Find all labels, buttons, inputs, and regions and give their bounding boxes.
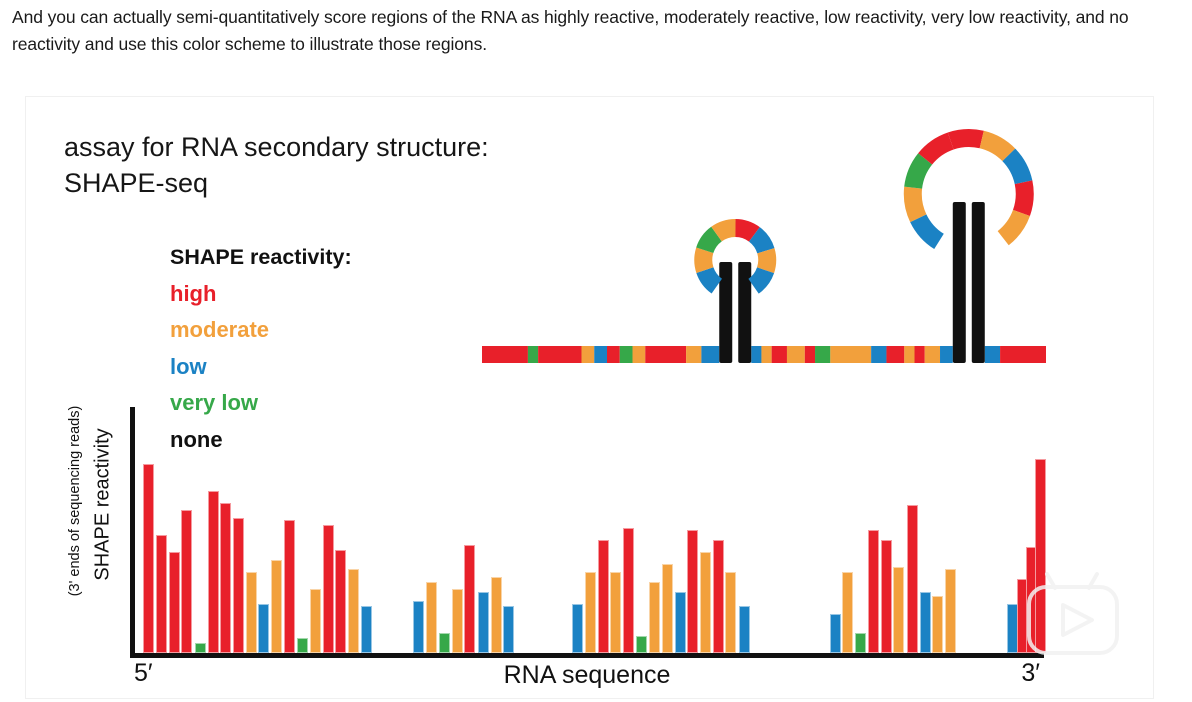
y-axis-label: SHAPE reactivity xyxy=(92,380,115,630)
bar-moderate xyxy=(585,572,596,653)
bar-high xyxy=(284,520,295,653)
bar-high xyxy=(208,491,219,653)
video-play-icon xyxy=(1019,568,1127,660)
bar-high xyxy=(598,540,609,653)
bar-moderate xyxy=(271,560,282,653)
backbone-segment xyxy=(1000,346,1046,363)
x-axis-ticks: 5′ RNA sequence 3′ xyxy=(130,659,1044,695)
backbone-segment xyxy=(815,346,830,363)
backbone-segment xyxy=(607,346,620,363)
bar-series xyxy=(135,407,1042,653)
bar-high xyxy=(868,530,879,653)
bar-moderate xyxy=(310,589,321,653)
slide-title: assay for RNA secondary structure: SHAPE… xyxy=(64,129,489,201)
backbone-segment xyxy=(805,346,815,363)
bar-low xyxy=(413,601,424,653)
shape-reactivity-chart: (3' ends of sequencing reads) SHAPE reac… xyxy=(34,397,1044,697)
bar-high xyxy=(907,505,918,653)
x-tick-3-prime: 3′ xyxy=(1021,659,1040,688)
bar-high xyxy=(233,518,244,653)
backbone-segment xyxy=(772,346,787,363)
backbone-segment xyxy=(482,346,528,363)
backbone-segment xyxy=(528,346,538,363)
legend-item-moderate: moderate xyxy=(170,312,352,349)
hairpin-stem xyxy=(953,202,966,363)
backbone-segment xyxy=(925,346,940,363)
backbone-segment xyxy=(904,346,914,363)
backbone-segment xyxy=(985,346,1000,363)
bar-high xyxy=(169,552,180,653)
bar-high xyxy=(181,510,192,653)
bar-very_low xyxy=(636,636,647,653)
bar-very_low xyxy=(439,633,450,653)
backbone-segment xyxy=(581,346,594,363)
hairpin-stem xyxy=(719,262,732,363)
bar-high xyxy=(687,530,698,653)
x-axis-line xyxy=(130,653,1044,658)
slide-panel: assay for RNA secondary structure: SHAPE… xyxy=(26,97,1153,698)
bar-moderate xyxy=(842,572,853,653)
bar-high xyxy=(464,545,475,653)
rna-hairpin-large xyxy=(913,138,1025,363)
bar-moderate xyxy=(700,552,711,653)
bar-high xyxy=(156,535,167,653)
bar-low xyxy=(675,592,686,654)
bar-low xyxy=(258,604,269,653)
backbone-segment xyxy=(787,346,805,363)
backbone-segment xyxy=(761,346,771,363)
bar-moderate xyxy=(246,572,257,653)
bar-low xyxy=(739,606,750,653)
slide-content: assay for RNA secondary structure: SHAPE… xyxy=(26,97,1153,698)
bar-moderate xyxy=(893,567,904,653)
bar-high xyxy=(713,540,724,653)
bar-very_low xyxy=(195,643,206,653)
bar-moderate xyxy=(725,572,736,653)
backbone-segment xyxy=(538,346,581,363)
bar-low xyxy=(920,592,931,654)
backbone-segment xyxy=(686,346,701,363)
backbone-segment xyxy=(701,346,719,363)
backbone-segment xyxy=(830,346,871,363)
bar-moderate xyxy=(426,582,437,653)
legend-item-low: low xyxy=(170,349,352,386)
bar-moderate xyxy=(945,569,956,653)
backbone-segment xyxy=(633,346,646,363)
bar-very_low xyxy=(855,633,866,653)
bar-high xyxy=(881,540,892,653)
backbone-segment xyxy=(940,346,953,363)
backbone-segment xyxy=(915,346,925,363)
bar-moderate xyxy=(649,582,660,653)
hairpin-stem xyxy=(972,202,985,363)
rna-hairpin-small xyxy=(703,228,767,363)
bar-moderate xyxy=(932,596,943,653)
bar-low xyxy=(361,606,372,653)
bar-low xyxy=(572,604,583,653)
bar-low xyxy=(478,592,489,654)
legend-title: SHAPE reactivity: xyxy=(170,239,352,276)
bar-very_low xyxy=(297,638,308,653)
bar-moderate xyxy=(662,564,673,653)
bar-high xyxy=(220,503,231,653)
bar-low xyxy=(503,606,514,653)
bar-moderate xyxy=(348,569,359,653)
bar-high xyxy=(623,528,634,653)
backbone-segment xyxy=(645,346,686,363)
y-axis-secondary-label: (3' ends of sequencing reads) xyxy=(67,376,83,626)
legend-item-high: high xyxy=(170,276,352,313)
bar-high xyxy=(323,525,334,653)
backbone-segment xyxy=(751,346,761,363)
bar-moderate xyxy=(452,589,463,653)
bar-high xyxy=(335,550,346,653)
bar-low xyxy=(830,614,841,653)
bar-moderate xyxy=(610,572,621,653)
transcript-caption: And you can actually semi-quantitatively… xyxy=(12,4,1162,58)
x-axis-label: RNA sequence xyxy=(130,661,1044,690)
hairpin-stem xyxy=(738,262,751,363)
bar-moderate xyxy=(491,577,502,653)
backbone-segment xyxy=(886,346,904,363)
backbone-segment xyxy=(620,346,633,363)
backbone-segment xyxy=(871,346,886,363)
backbone-segment xyxy=(594,346,607,363)
bar-high xyxy=(143,464,154,653)
